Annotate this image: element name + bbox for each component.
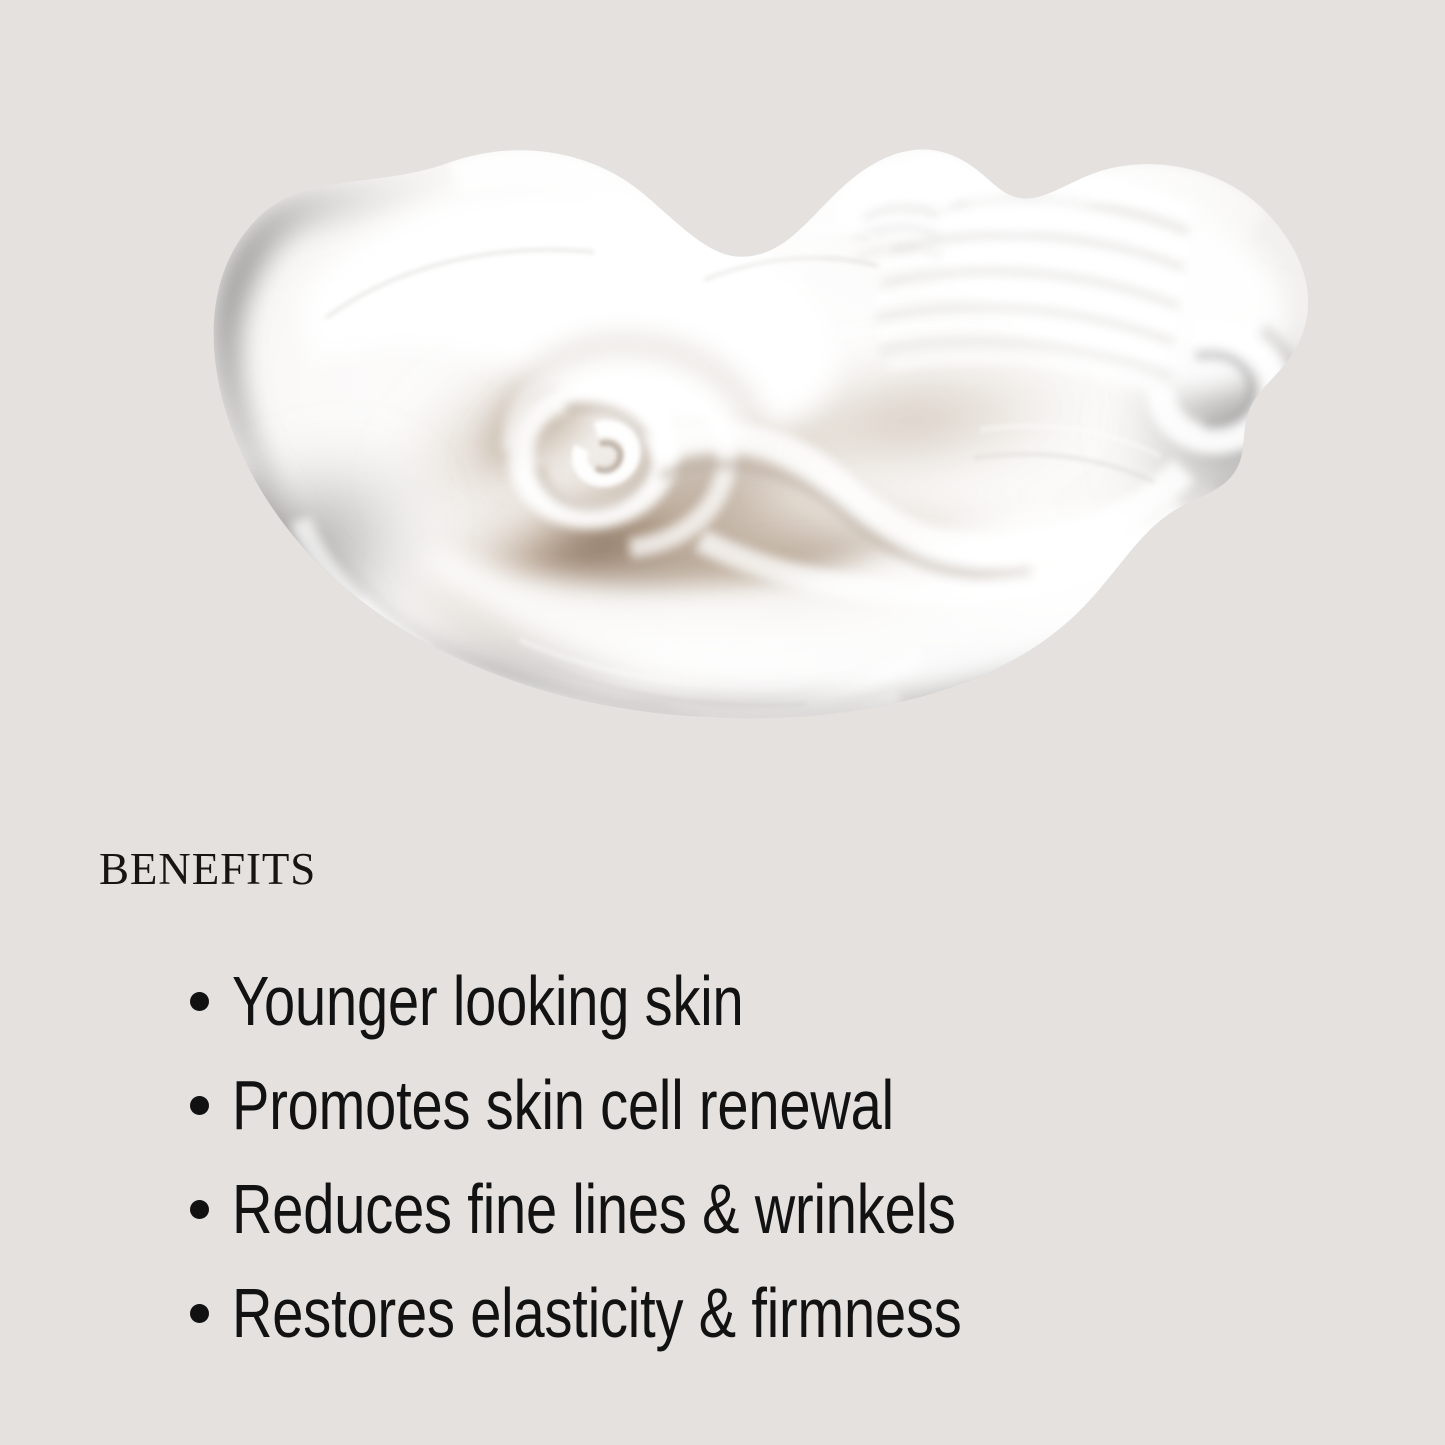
bullet-icon xyxy=(190,1183,232,1227)
bullet-icon xyxy=(190,1287,232,1331)
bullet-icon xyxy=(190,975,232,1019)
benefit-label: Promotes skin cell renewal xyxy=(232,1070,894,1140)
bullet-icon xyxy=(190,1079,232,1123)
product-benefits-panel: BENEFITS Younger looking skin Promotes s… xyxy=(0,0,1445,1445)
page-title: BENEFITS xyxy=(99,847,316,892)
benefit-label: Younger looking skin xyxy=(232,966,744,1036)
benefit-label: Restores elasticity & firmness xyxy=(232,1278,962,1348)
benefits-section: BENEFITS Younger looking skin Promotes s… xyxy=(0,770,1445,1445)
list-item: Restores elasticity & firmness xyxy=(0,1278,1445,1382)
list-item: Younger looking skin xyxy=(0,966,1445,1070)
list-item: Promotes skin cell renewal xyxy=(0,1070,1445,1174)
list-item: Reduces fine lines & wrinkels xyxy=(0,1174,1445,1278)
cream-swatch-image xyxy=(0,0,1445,770)
benefit-label: Reduces fine lines & wrinkels xyxy=(232,1174,956,1244)
benefits-list: Younger looking skin Promotes skin cell … xyxy=(0,966,1445,1382)
